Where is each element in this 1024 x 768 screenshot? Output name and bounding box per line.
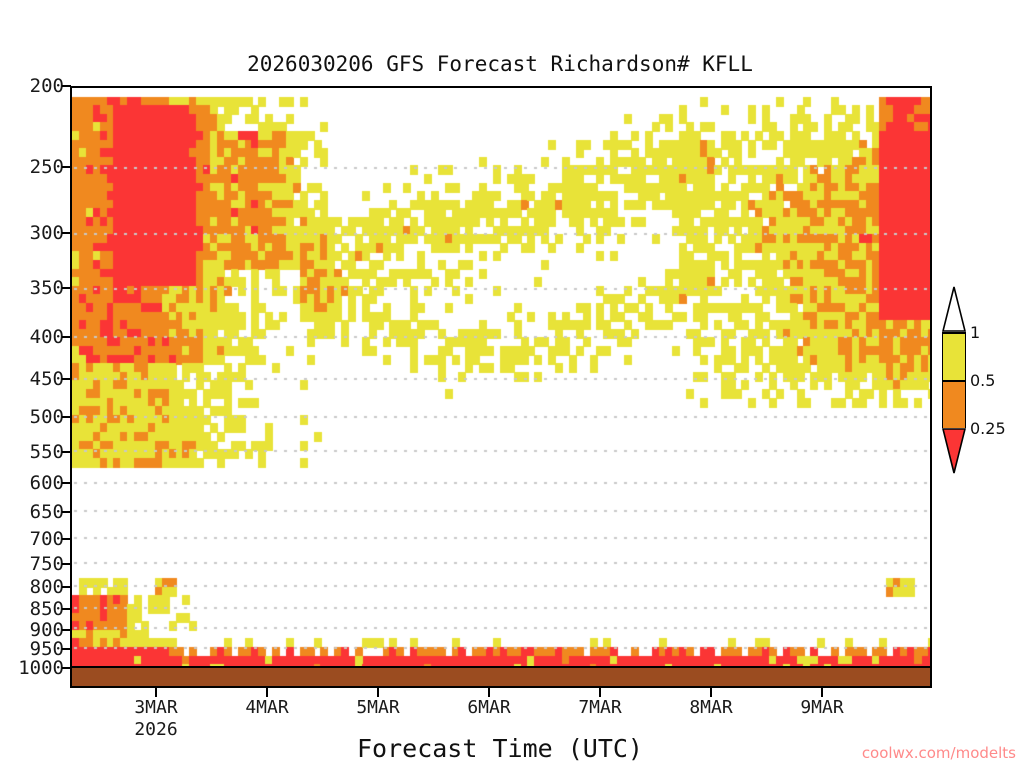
x-tick-mark-5MAR bbox=[377, 688, 379, 697]
y-tick-label-450: 450 bbox=[30, 368, 64, 390]
x-axis-title: Forecast Time (UTC) bbox=[0, 734, 1000, 763]
colorbar-divider bbox=[942, 332, 966, 334]
x-tick-mark-6MAR bbox=[488, 688, 490, 697]
colorbar-extend-top bbox=[942, 286, 966, 332]
terrain-band bbox=[70, 668, 932, 688]
colorbar-band-2 bbox=[942, 380, 966, 428]
y-tick-label-700: 700 bbox=[30, 528, 64, 550]
y-axis: 2002503003504004505005506006507007508008… bbox=[0, 0, 64, 768]
y-tick-label-200: 200 bbox=[30, 75, 64, 97]
chart-root: 2026030206 GFS Forecast Richardson# KFLL… bbox=[0, 0, 1024, 768]
y-tick-label-550: 550 bbox=[30, 441, 64, 463]
x-tick-label-9MAR: 9MAR bbox=[800, 697, 843, 718]
colorbar-label-0: 1 bbox=[970, 323, 980, 342]
x-tick-mark-7MAR bbox=[599, 688, 601, 697]
x-tick-label-5MAR: 5MAR bbox=[356, 697, 399, 718]
y-tick-label-750: 750 bbox=[30, 553, 64, 575]
colorbar-band-1 bbox=[942, 332, 966, 380]
x-tick-mark-3MAR bbox=[155, 688, 157, 697]
y-tick-label-1000: 1000 bbox=[18, 657, 64, 679]
y-tick-label-800: 800 bbox=[30, 576, 64, 598]
y-tick-label-600: 600 bbox=[30, 472, 64, 494]
plot-area bbox=[70, 86, 932, 668]
colorbar-label-1: 0.5 bbox=[970, 371, 995, 390]
y-tick-label-500: 500 bbox=[30, 406, 64, 428]
colorbar-divider bbox=[942, 380, 966, 382]
x-tick-label-8MAR: 8MAR bbox=[689, 697, 732, 718]
x-tick-mark-4MAR bbox=[266, 688, 268, 697]
watermark: coolwx.com/modelts bbox=[862, 744, 1016, 762]
y-tick-label-350: 350 bbox=[30, 277, 64, 299]
x-tick-label-6MAR: 6MAR bbox=[467, 697, 510, 718]
y-tick-label-850: 850 bbox=[30, 598, 64, 620]
y-tick-label-400: 400 bbox=[30, 326, 64, 348]
colorbar-label-2: 0.25 bbox=[970, 419, 1006, 438]
colorbar-extend-bottom bbox=[942, 428, 966, 474]
x-tick-label-3MAR: 3MAR bbox=[134, 697, 177, 718]
colorbar: 10.50.25 bbox=[940, 286, 968, 486]
x-tick-mark-8MAR bbox=[710, 688, 712, 697]
y-tick-label-250: 250 bbox=[30, 156, 64, 178]
page-title: 2026030206 GFS Forecast Richardson# KFLL bbox=[0, 52, 1000, 76]
x-tick-mark-9MAR bbox=[821, 688, 823, 697]
x-tick-label-4MAR: 4MAR bbox=[245, 697, 288, 718]
x-tick-label-7MAR: 7MAR bbox=[578, 697, 621, 718]
y-tick-label-300: 300 bbox=[30, 222, 64, 244]
y-tick-label-650: 650 bbox=[30, 501, 64, 523]
heatmap-canvas bbox=[72, 88, 930, 666]
